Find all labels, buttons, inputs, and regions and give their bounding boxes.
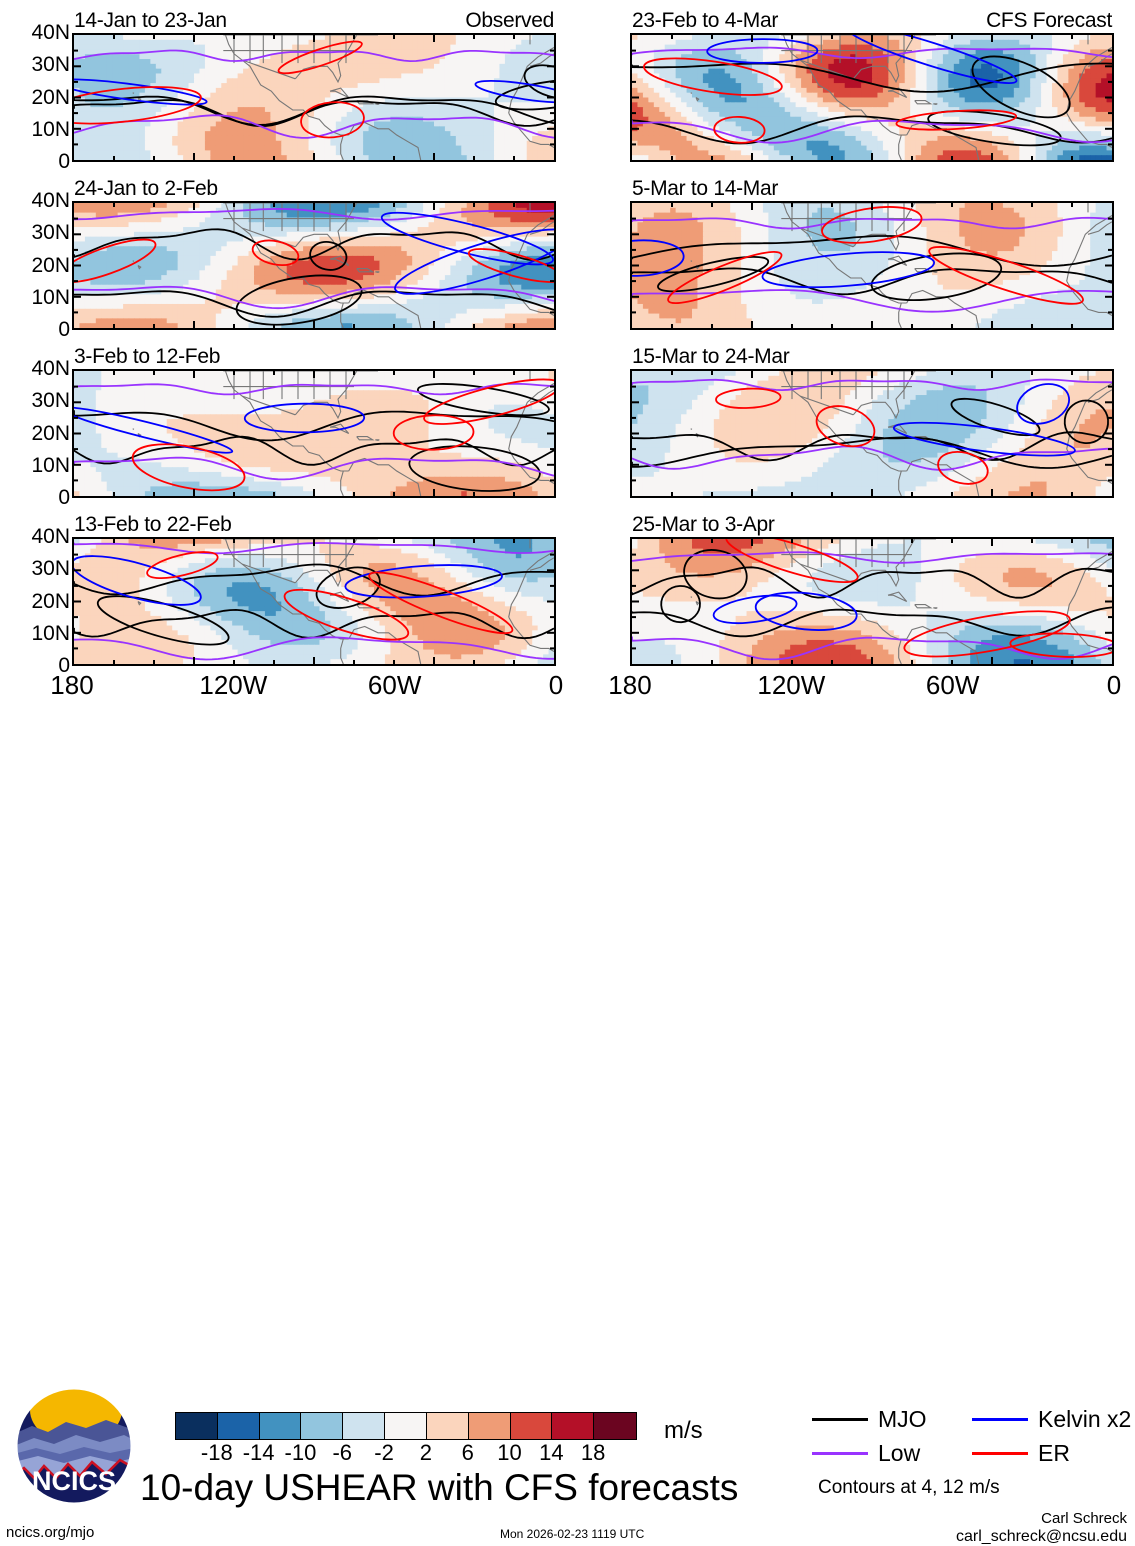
y-tick-30N: 30N <box>31 390 70 411</box>
colorbar-swatch-0 <box>176 1413 218 1439</box>
colorbar-swatch-4 <box>342 1413 385 1439</box>
y-tick-20N: 20N <box>31 591 70 612</box>
map-canvas <box>632 35 1112 160</box>
legend-label-er: ER <box>1038 1441 1070 1465</box>
colorbar: -18-14-10-6-226101418 <box>175 1412 637 1466</box>
column-header-right: CFS Forecast <box>986 10 1112 31</box>
map-fcst-4 <box>630 537 1114 666</box>
y-axis-labels: 40N30N20N10N0 <box>4 201 70 330</box>
site-url: ncics.org/mjo <box>6 1524 94 1541</box>
colorbar-tick-labels: -18-14-10-6-226101418 <box>175 1440 637 1466</box>
panel-obs-2: 24-Jan to 2-Feb40N30N20N10N0 <box>72 178 556 330</box>
y-axis-labels: 40N30N20N10N0 <box>4 369 70 498</box>
legend-entry-er: ER <box>972 1441 1132 1465</box>
logo-text: NCICS <box>32 1466 116 1496</box>
legend-line-er <box>972 1452 1028 1455</box>
legend-entry-kelvin: Kelvin x2 <box>972 1407 1132 1431</box>
colorbar-tick--14: -14 <box>243 1441 275 1465</box>
contour-legend: MJO Kelvin x2 Low ER <box>812 1402 1132 1470</box>
colorbar-tick-10: 10 <box>497 1441 521 1465</box>
colorbar-swatches <box>175 1412 637 1440</box>
legend-line-mjo <box>812 1418 868 1421</box>
colorbar-swatch-9 <box>551 1413 594 1439</box>
panel-title-obs-2: 24-Jan to 2-Feb <box>74 178 218 199</box>
column-header-left: Observed <box>465 10 554 31</box>
panel-fcst-2: 5-Mar to 14-Mar <box>630 178 1114 330</box>
y-tick-10N: 10N <box>31 287 70 308</box>
colorbar-tick--2: -2 <box>374 1441 394 1465</box>
map-obs-3 <box>72 369 556 498</box>
colorbar-units: m/s <box>664 1418 703 1444</box>
colorbar-swatch-2 <box>259 1413 302 1439</box>
legend-label-kelvin: Kelvin x2 <box>1038 1407 1131 1431</box>
colorbar-swatch-7 <box>468 1413 511 1439</box>
colorbar-swatch-5 <box>384 1413 427 1439</box>
colorbar-tick--6: -6 <box>332 1441 352 1465</box>
map-canvas <box>74 539 554 664</box>
panel-fcst-1: 23-Feb to 4-MarCFS Forecast <box>630 10 1114 162</box>
panel-title-obs-3: 3-Feb to 12-Feb <box>74 346 220 367</box>
legend-row: MJO Kelvin x2 <box>812 1402 1132 1436</box>
legend-label-low: Low <box>878 1441 920 1465</box>
map-canvas <box>74 203 554 328</box>
map-canvas <box>632 539 1112 664</box>
y-tick-20N: 20N <box>31 255 70 276</box>
legend-line-kelvin <box>972 1418 1028 1421</box>
y-axis-labels: 40N30N20N10N0 <box>4 537 70 666</box>
panel-grid: 14-Jan to 23-JanObserved40N30N20N10N024-… <box>0 0 1135 690</box>
y-tick-40N: 40N <box>31 358 70 379</box>
y-tick-20N: 20N <box>31 87 70 108</box>
y-tick-40N: 40N <box>31 190 70 211</box>
timestamp: Mon 2026-02-23 1119 UTC <box>500 1527 644 1541</box>
legend-label-mjo: MJO <box>878 1407 927 1431</box>
panel-title-obs-4: 13-Feb to 22-Feb <box>74 514 231 535</box>
colorbar-tick-2: 2 <box>420 1441 432 1465</box>
panel-obs-3: 3-Feb to 12-Feb40N30N20N10N0 <box>72 346 556 498</box>
author-name: Carl Schreck <box>1041 1510 1127 1527</box>
y-tick-0: 0 <box>58 319 70 340</box>
panel-title-fcst-4: 25-Mar to 3-Apr <box>632 514 775 535</box>
figure-title: 10-day USHEAR with CFS forecasts <box>140 1468 738 1508</box>
y-tick-30N: 30N <box>31 222 70 243</box>
map-fcst-1 <box>630 33 1114 162</box>
colorbar-swatch-6 <box>426 1413 469 1439</box>
legend-line-low <box>812 1452 868 1455</box>
map-canvas <box>632 203 1112 328</box>
y-tick-30N: 30N <box>31 54 70 75</box>
y-tick-10N: 10N <box>31 119 70 140</box>
legend-entry-mjo: MJO <box>812 1407 972 1431</box>
map-obs-1 <box>72 33 556 162</box>
colorbar-tick-14: 14 <box>539 1441 563 1465</box>
y-tick-40N: 40N <box>31 22 70 43</box>
panel-obs-4: 13-Feb to 22-Feb40N30N20N10N0180120W60W0 <box>72 514 556 666</box>
map-fcst-3 <box>630 369 1114 498</box>
y-axis-labels: 40N30N20N10N0 <box>4 33 70 162</box>
panel-title-fcst-3: 15-Mar to 24-Mar <box>632 346 789 367</box>
author-email: carl_schreck@ncsu.edu <box>956 1528 1127 1546</box>
y-tick-20N: 20N <box>31 423 70 444</box>
figure-footer: NCICS -18-14-10-6-226101418 m/s 10-day U… <box>0 690 1135 859</box>
y-tick-0: 0 <box>58 151 70 172</box>
colorbar-swatch-8 <box>510 1413 553 1439</box>
colorbar-tick-6: 6 <box>462 1441 474 1465</box>
legend-row: Low ER <box>812 1436 1132 1470</box>
map-canvas <box>632 371 1112 496</box>
map-fcst-2 <box>630 201 1114 330</box>
y-tick-40N: 40N <box>31 526 70 547</box>
map-canvas <box>74 371 554 496</box>
colorbar-swatch-1 <box>217 1413 260 1439</box>
colorbar-tick-18: 18 <box>581 1441 605 1465</box>
panel-title-fcst-2: 5-Mar to 14-Mar <box>632 178 778 199</box>
colorbar-swatch-3 <box>300 1413 343 1439</box>
panel-fcst-3: 15-Mar to 24-Mar <box>630 346 1114 498</box>
legend-entry-low: Low <box>812 1441 972 1465</box>
map-obs-2 <box>72 201 556 330</box>
colorbar-swatch-10 <box>593 1413 636 1439</box>
ncics-logo: NCICS <box>14 1388 134 1506</box>
y-tick-0: 0 <box>58 487 70 508</box>
panel-obs-1: 14-Jan to 23-JanObserved40N30N20N10N0 <box>72 10 556 162</box>
map-obs-4 <box>72 537 556 666</box>
y-tick-10N: 10N <box>31 623 70 644</box>
map-canvas <box>74 35 554 160</box>
panel-title-obs-1: 14-Jan to 23-Jan <box>74 10 227 31</box>
y-tick-10N: 10N <box>31 455 70 476</box>
colorbar-tick--18: -18 <box>201 1441 233 1465</box>
panel-fcst-4: 25-Mar to 3-Apr180120W60W0 <box>630 514 1114 666</box>
y-tick-30N: 30N <box>31 558 70 579</box>
contour-note: Contours at 4, 12 m/s <box>818 1477 1000 1499</box>
colorbar-tick--10: -10 <box>285 1441 317 1465</box>
panel-title-fcst-1: 23-Feb to 4-Mar <box>632 10 778 31</box>
